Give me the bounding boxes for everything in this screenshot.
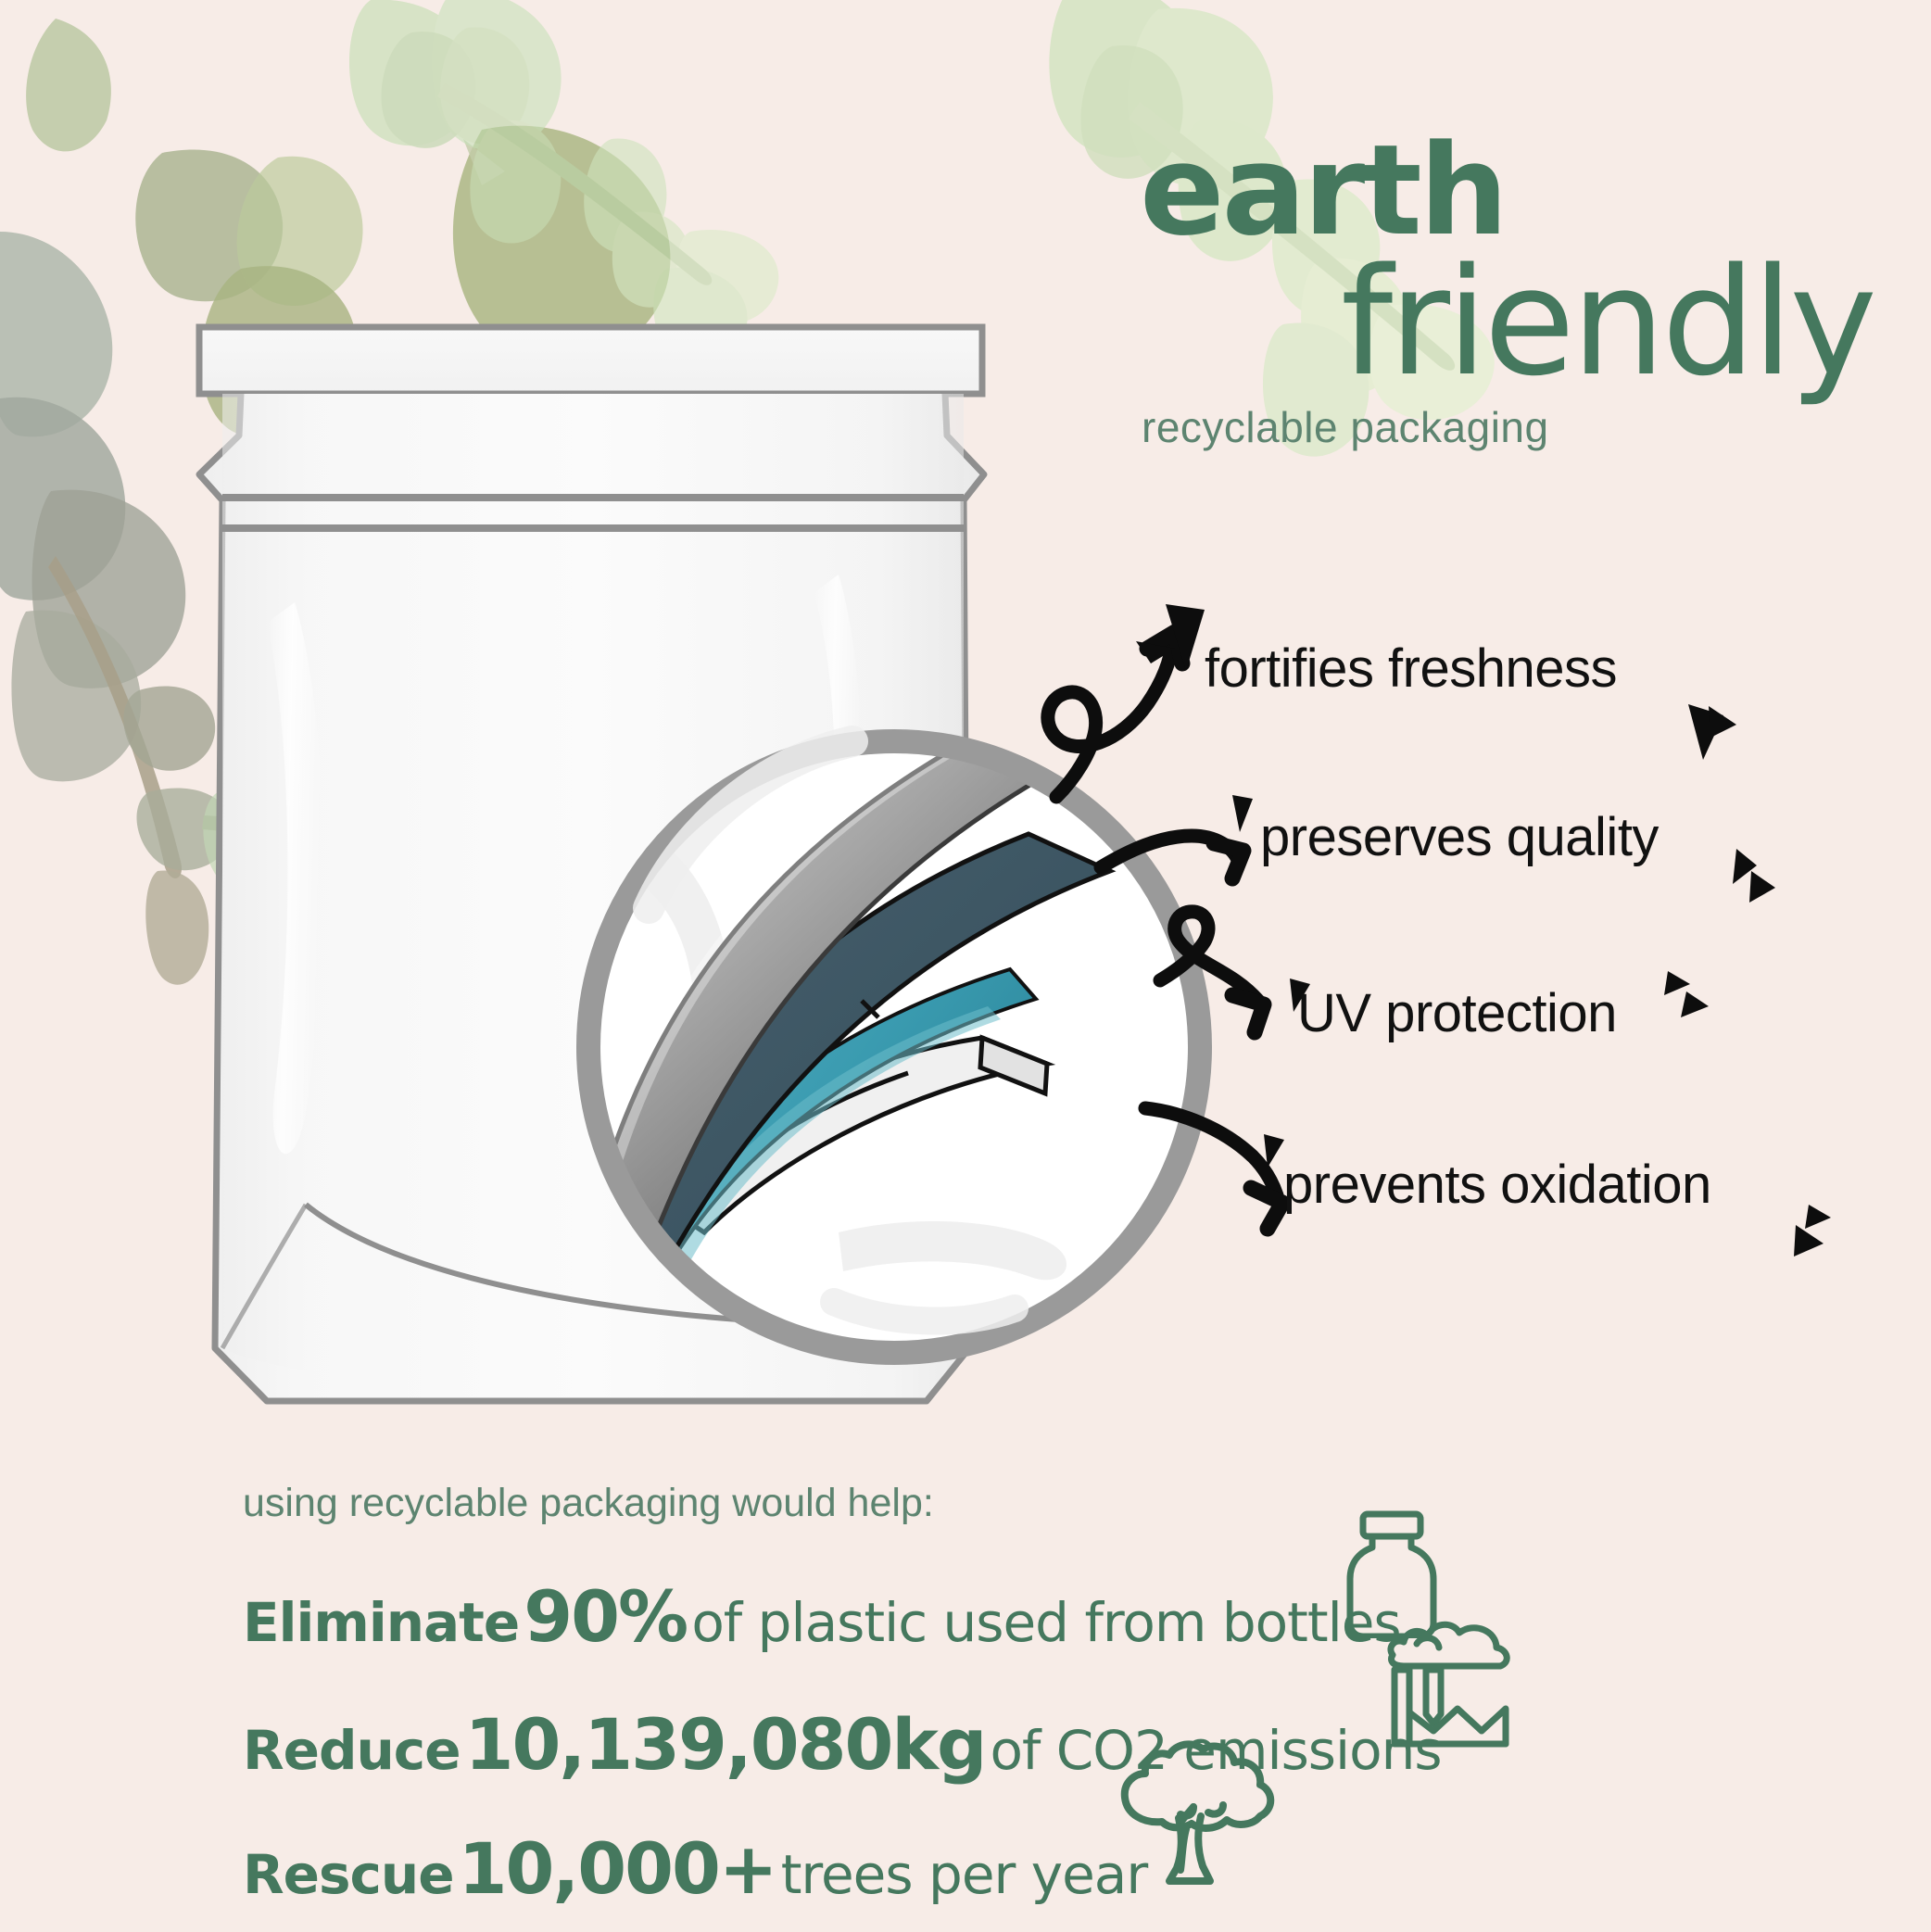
factory-icon bbox=[1385, 1612, 1571, 1761]
feature-label-prevents-oxidation: prevents oxidation bbox=[1283, 1154, 1711, 1216]
curly-arrow-icon-4 bbox=[1145, 1108, 1282, 1229]
stat-verb: Eliminate bbox=[243, 1591, 519, 1654]
curly-loop-arrow-icon-3 bbox=[1160, 912, 1264, 1032]
feature-label-preserves-quality: preserves quality bbox=[1260, 806, 1659, 868]
feature-label-fortifies-freshness: fortifies freshness bbox=[1205, 638, 1617, 700]
stat-rest: trees per year bbox=[781, 1843, 1148, 1906]
curly-loop-arrow-icon-1 bbox=[1048, 632, 1182, 797]
stat-verb: Reduce bbox=[243, 1719, 461, 1782]
header: earth friendly recyclable packaging bbox=[1140, 130, 1881, 452]
curly-arrow-icon-2 bbox=[1101, 836, 1243, 878]
infographic-canvas: earth friendly recyclable packaging fort… bbox=[0, 0, 1931, 1932]
stat-rest: of plastic used from bottles bbox=[691, 1591, 1400, 1654]
stat-value: 10,139,080kg bbox=[465, 1703, 986, 1786]
stat-value: 90% bbox=[524, 1575, 687, 1658]
tree-icon bbox=[1108, 1740, 1294, 1898]
stat-verb: Rescue bbox=[243, 1843, 454, 1906]
stats-lead-in: using recyclable packaging would help: bbox=[243, 1481, 934, 1526]
page-subtitle: recyclable packaging bbox=[1140, 402, 1881, 452]
page-title-line1: earth bbox=[1140, 130, 1881, 252]
stat-row-rescue: Rescue 10,000+ trees per year bbox=[243, 1827, 1147, 1910]
page-title-line2: friendly bbox=[1140, 252, 1881, 393]
feature-label-uv-protection: UV protection bbox=[1297, 982, 1617, 1044]
stat-value: 10,000+ bbox=[459, 1827, 776, 1910]
stat-row-eliminate: Eliminate 90% of plastic used from bottl… bbox=[243, 1575, 1401, 1658]
